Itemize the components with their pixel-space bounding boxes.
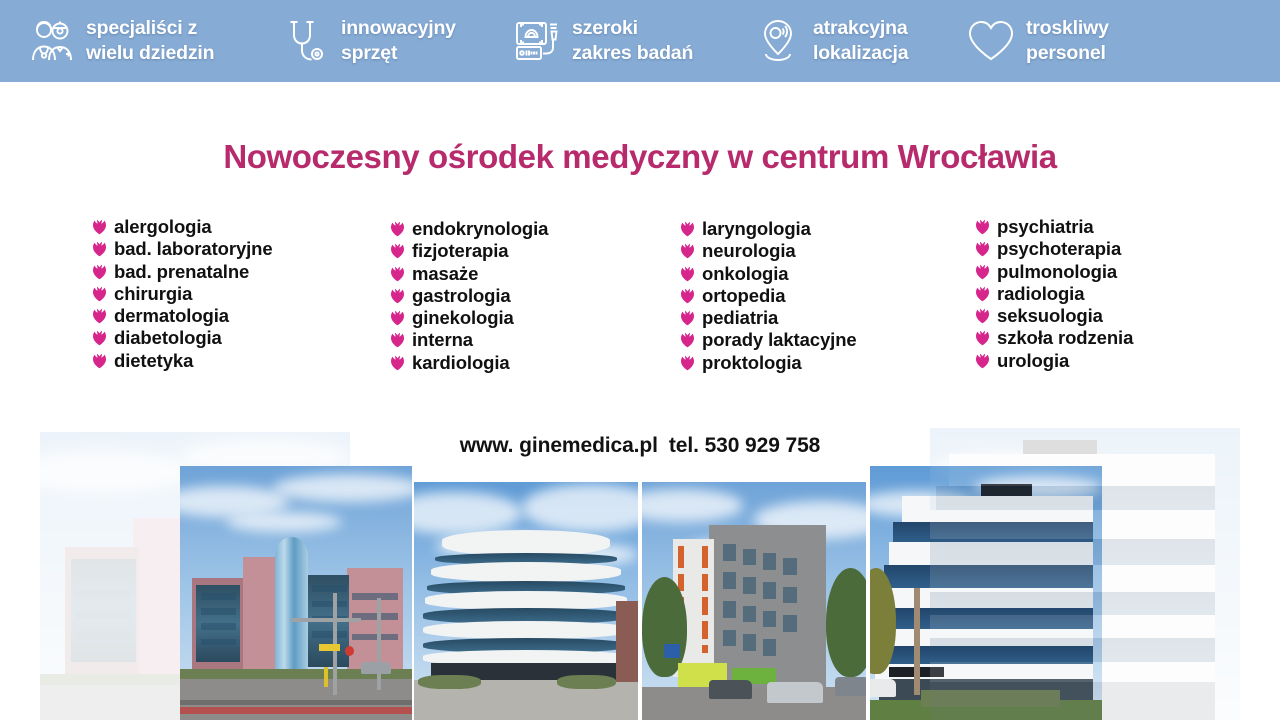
photo-white-modern-office-faded [930,428,1240,720]
building-photo-gallery [0,420,1280,720]
feature-szeroki-zakres-badan: szeroki zakres badań [511,0,746,82]
list-item[interactable]: fizjoterapia [390,240,548,262]
tulip-bullet-icon [390,355,405,371]
list-item[interactable]: kardiologia [390,352,548,374]
list-item[interactable]: ginekologia [390,307,548,329]
list-item-label: fizjoterapia [412,240,508,262]
list-item[interactable]: psychiatria [975,216,1133,238]
list-item-label: kardiologia [412,352,510,374]
tulip-bullet-icon [680,243,695,259]
feature-label: innowacyjny sprzęt [341,16,456,66]
list-item-label: seksuologia [997,305,1103,327]
list-item-label: szkoła rodzenia [997,327,1133,349]
list-item[interactable]: seksuologia [975,305,1133,327]
list-item[interactable]: endokrynologia [390,218,548,240]
list-item[interactable]: chirurgia [92,283,273,305]
tulip-bullet-icon [92,353,107,369]
list-item-label: radiologia [997,283,1084,305]
photo-grey-brick-apartment [642,482,866,720]
list-item-label: neurologia [702,240,796,262]
list-item-label: psychiatria [997,216,1094,238]
feature-label: atrakcyjna lokalizacja [813,16,908,66]
list-item-label: porady laktacyjne [702,329,857,351]
tulip-bullet-icon [975,286,990,302]
tulip-bullet-icon [680,332,695,348]
list-item[interactable]: pulmonologia [975,261,1133,283]
specialties-column-3: laryngologia neurologia onkologia ortope… [680,218,857,374]
list-item-label: endokrynologia [412,218,548,240]
page-title: Nowoczesny ośrodek medyczny w centrum Wr… [0,138,1280,176]
specialties-column-1: alergologia bad. laboratoryjne bad. pren… [92,216,273,372]
tulip-bullet-icon [680,266,695,282]
list-item[interactable]: dietetyka [92,350,273,372]
list-item-label: gastrologia [412,285,511,307]
feature-troskliwy-personel: troskliwy personel [965,0,1165,82]
building-scene [930,428,1240,720]
list-item-label: ortopedia [702,285,785,307]
photo-pink-glass-office [180,466,412,720]
list-item[interactable]: bad. prenatalne [92,261,273,283]
list-item[interactable]: onkologia [680,263,857,285]
list-item[interactable]: masaże [390,263,548,285]
list-item[interactable]: gastrologia [390,285,548,307]
building-scene [414,482,638,720]
list-item-label: urologia [997,350,1069,372]
list-item[interactable]: szkoła rodzenia [975,327,1133,349]
list-item[interactable]: diabetologia [92,327,273,349]
heart-icon [965,15,1017,67]
list-item-label: pediatria [702,307,778,329]
tulip-bullet-icon [390,332,405,348]
list-item[interactable]: neurologia [680,240,857,262]
list-item-label: psychoterapia [997,238,1121,260]
feature-label: szeroki zakres badań [572,16,693,66]
list-item-label: dietetyka [114,350,193,372]
list-item[interactable]: radiologia [975,283,1133,305]
tulip-bullet-icon [975,219,990,235]
tulip-bullet-icon [92,219,107,235]
list-item[interactable]: interna [390,329,548,351]
list-item-label: alergologia [114,216,212,238]
list-item-label: chirurgia [114,283,192,305]
tulip-bullet-icon [92,308,107,324]
specialties-list: alergologia bad. laboratoryjne bad. pren… [0,216,1280,386]
tulip-bullet-icon [92,286,107,302]
list-item-label: proktologia [702,352,802,374]
tulip-bullet-icon [680,355,695,371]
list-item-label: laryngologia [702,218,811,240]
tulip-bullet-icon [975,330,990,346]
tulip-bullet-icon [975,241,990,257]
building-scene [642,482,866,720]
list-item-label: interna [412,329,473,351]
tulip-bullet-icon [975,264,990,280]
location-pin-icon [752,15,804,67]
list-item-label: dermatologia [114,305,229,327]
tulip-bullet-icon [390,243,405,259]
list-item[interactable]: bad. laboratoryjne [92,238,273,260]
feature-specjalisci: specjaliści z wielu dziedzin [25,0,271,82]
list-item[interactable]: dermatologia [92,305,273,327]
specialties-column-2: endokrynologia fizjoterapia masaże gastr… [390,218,548,374]
ultrasound-machine-icon [511,15,563,67]
stethoscope-icon [280,15,332,67]
list-item-label: diabetologia [114,327,222,349]
list-item-label: bad. laboratoryjne [114,238,273,260]
list-item-label: pulmonologia [997,261,1117,283]
list-item[interactable]: laryngologia [680,218,857,240]
tulip-bullet-icon [92,330,107,346]
list-item-label: onkologia [702,263,788,285]
list-item-label: masaże [412,263,478,285]
feature-label: specjaliści z wielu dziedzin [86,16,214,66]
specialties-column-4: psychiatria psychoterapia pulmonologia r… [975,216,1133,372]
list-item-label: ginekologia [412,307,514,329]
feature-label: troskliwy personel [1026,16,1109,66]
list-item[interactable]: alergologia [92,216,273,238]
list-item[interactable]: urologia [975,350,1133,372]
list-item[interactable]: porady laktacyjne [680,329,857,351]
tulip-bullet-icon [92,241,107,257]
feature-innowacyjny-sprzet: innowacyjny sprzęt [280,0,505,82]
list-item[interactable]: proktologia [680,352,857,374]
tulip-bullet-icon [975,308,990,324]
tulip-bullet-icon [92,264,107,280]
tulip-bullet-icon [975,353,990,369]
list-item[interactable]: ortopedia [680,285,857,307]
tulip-bullet-icon [390,221,405,237]
list-item[interactable]: pediatria [680,307,857,329]
tulip-bullet-icon [390,310,405,326]
tulip-bullet-icon [390,266,405,282]
list-item-label: bad. prenatalne [114,261,249,283]
feature-atrakcyjna-lokalizacja: atrakcyjna lokalizacja [752,0,957,82]
photo-round-white-office [414,482,638,720]
tulip-bullet-icon [680,310,695,326]
tulip-bullet-icon [390,288,405,304]
tulip-bullet-icon [680,221,695,237]
building-scene [180,466,412,720]
tulip-bullet-icon [680,288,695,304]
features-banner: specjaliści z wielu dziedzin innowacyjny… [0,0,1280,82]
list-item[interactable]: psychoterapia [975,238,1133,260]
two-doctors-icon [25,15,77,67]
